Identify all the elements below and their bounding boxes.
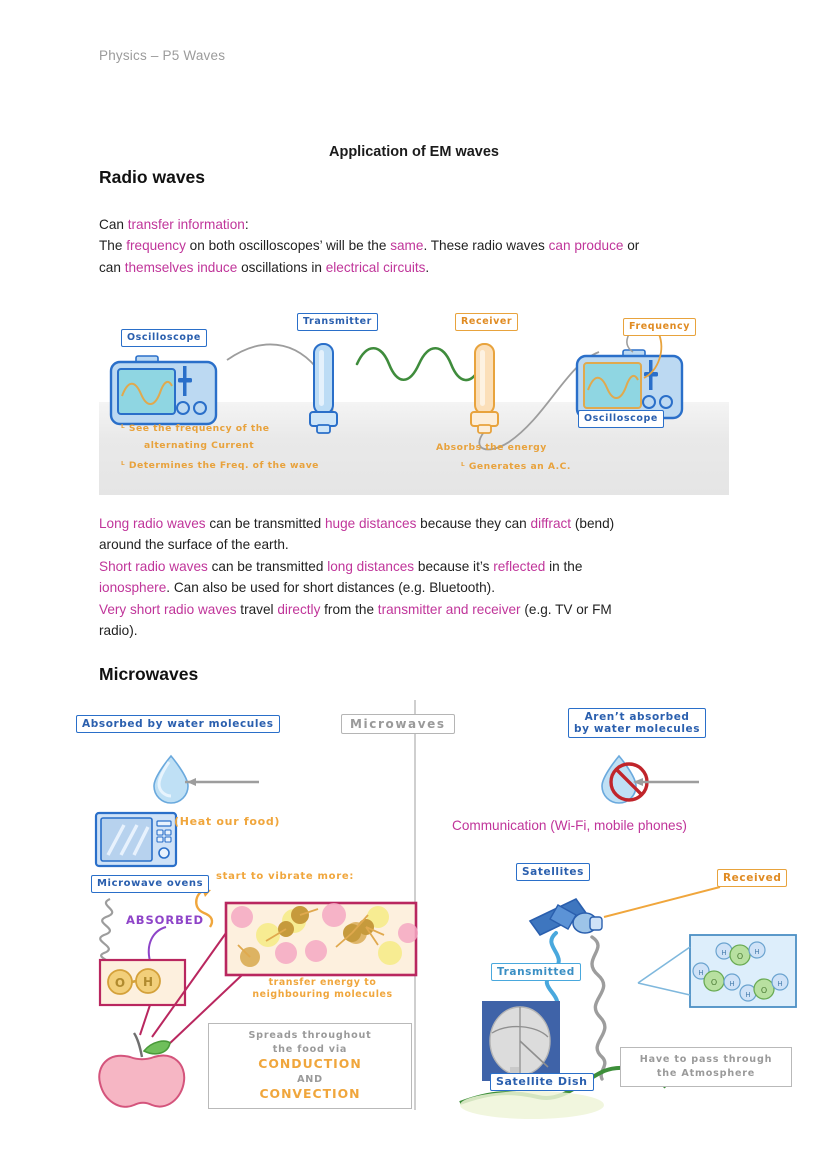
oscilloscope-right-icon: [577, 334, 682, 418]
note-page: Physics – P5 Waves Application of EM wav…: [0, 0, 828, 1171]
figure-microwave-heating: O H: [90, 805, 420, 1110]
label-oscilloscope-right: Oscilloscope: [578, 410, 664, 428]
satellite-icon: [530, 899, 602, 935]
label-transmitted: Transmitted: [491, 963, 581, 981]
text-directly: directly: [277, 602, 320, 617]
water-droplet-icon: [154, 756, 188, 803]
text-long-distances: long distances: [327, 559, 414, 574]
note-absorbs-energy: Absorbs the energy: [436, 442, 547, 453]
box-pass-through-atmosphere: Have to pass through the Atmosphere: [620, 1047, 792, 1087]
apple-icon: [99, 1033, 184, 1107]
svg-text:H: H: [698, 969, 703, 977]
text-long-radio-waves: Long radio waves: [99, 516, 206, 531]
text-can: Can: [99, 217, 128, 232]
label-absorbed-by-water-molecules: Absorbed by water molecules: [76, 715, 280, 733]
svg-text:H: H: [729, 980, 734, 988]
oscilloscope-left-icon: [111, 356, 216, 424]
caption-transfer-energy: transfer energy to neighbouring molecule…: [230, 977, 415, 1001]
svg-text:H: H: [777, 980, 782, 988]
text-can-produce: can produce: [549, 238, 624, 253]
caption-transfer-line1: transfer energy to: [269, 977, 377, 988]
label-satellites: Satellites: [516, 863, 590, 881]
caption-spreads-line1: Spreads throughout: [248, 1030, 371, 1041]
satellite-dish-icon: [482, 1001, 560, 1083]
section-heading-microwaves: Microwaves: [99, 664, 198, 685]
label-receiver: Receiver: [455, 313, 518, 331]
caption-convection: CONVECTION: [259, 1086, 360, 1101]
caption-spreads-line2: the food via: [273, 1044, 347, 1055]
svg-text:H: H: [143, 975, 153, 989]
text-diffract: diffract: [531, 516, 572, 531]
box-spreads-throughout-food: Spreads throughout the food via CONDUCTI…: [208, 1023, 412, 1109]
label-not-absorbed-line2: by water molecules: [574, 723, 700, 735]
svg-text:H: H: [745, 991, 750, 999]
text-from-the: from the: [320, 602, 377, 617]
text-period: .: [425, 260, 429, 275]
text-because-they-can: because they can: [416, 516, 530, 531]
atmosphere-molecules-box: H O H H O H H O H: [638, 935, 796, 1007]
text-transfer-information: transfer information: [128, 217, 245, 232]
text-can-be-transmitted2: can be transmitted: [208, 559, 327, 574]
text-colon: :: [245, 217, 249, 232]
note-determines-freq: ᴸ Determines the Freq. of the wave: [121, 460, 319, 471]
caption-atmosphere-line2: the Atmosphere: [657, 1068, 755, 1079]
caption-atmosphere-line1: Have to pass through: [640, 1054, 773, 1065]
label-microwave-ovens: Microwave ovens: [91, 875, 209, 893]
label-transmitter: Transmitter: [297, 313, 378, 331]
text-the: The: [99, 238, 126, 253]
text-bend: (bend): [571, 516, 614, 531]
svg-text:O: O: [761, 986, 767, 995]
caption-conduction: CONDUCTION: [258, 1056, 361, 1071]
water-droplet-blocked-icon: [602, 756, 699, 803]
text-frequency: frequency: [126, 238, 186, 253]
caption-communication: Communication (Wi-Fi, mobile phones): [452, 818, 687, 833]
text-around-earth: around the surface of the earth.: [99, 537, 289, 552]
label-not-absorbed-by-water: Aren’t absorbed by water molecules: [568, 708, 706, 738]
text-radio-close: radio).: [99, 623, 138, 638]
text-themselves-induce: themselves induce: [125, 260, 238, 275]
label-received: Received: [717, 869, 787, 887]
text-ionosphere: ionosphere: [99, 580, 166, 595]
water-molecule-box: O H: [100, 960, 185, 1005]
section-heading-radio-waves: Radio waves: [99, 167, 205, 188]
label-not-absorbed-line1: Aren’t absorbed: [585, 711, 690, 723]
svg-text:H: H: [721, 949, 726, 957]
text-in-the: in the: [545, 559, 582, 574]
text-can2: can: [99, 260, 125, 275]
note-generates-ac: ᴸ Generates an A.C.: [461, 461, 571, 472]
svg-text:O: O: [737, 952, 743, 961]
label-frequency: Frequency: [623, 318, 696, 336]
label-microwaves-title: Microwaves: [341, 714, 455, 734]
text-very-short-radio-waves: Very short radio waves: [99, 602, 237, 617]
label-satellite-dish: Satellite Dish: [490, 1073, 594, 1091]
text-huge-distances: huge distances: [325, 516, 416, 531]
note-see-frequency-line2: alternating Current: [144, 440, 254, 451]
text-or: or: [623, 238, 639, 253]
vibrating-molecules-box: [226, 903, 418, 975]
text-same: same: [390, 238, 423, 253]
text-travel: travel: [237, 602, 278, 617]
droplet-row-svg: [99, 750, 739, 810]
transmitter-antenna-icon: [310, 344, 337, 433]
paragraph-radio-intro: Can transfer information: The frequency …: [99, 214, 739, 278]
figure-microwave-communication: H O H H O H H O H: [452, 855, 800, 1110]
text-can-be-transmitted: can be transmitted: [206, 516, 325, 531]
label-oscilloscope-left: Oscilloscope: [121, 329, 207, 347]
receiver-antenna-icon: [471, 344, 498, 433]
svg-text:O: O: [115, 976, 125, 990]
page-title: Application of EM waves: [0, 144, 828, 160]
svg-text:O: O: [711, 978, 717, 987]
text-on-both: on both oscilloscopes’ will be the: [186, 238, 390, 253]
text-these-waves: . These radio waves: [423, 238, 548, 253]
breadcrumb: Physics – P5 Waves: [99, 48, 225, 63]
caption-transfer-line2: neighbouring molecules: [252, 989, 392, 1000]
microwave-oven-icon: [96, 813, 176, 866]
text-oscillations-in: oscillations in: [237, 260, 325, 275]
caption-and: AND: [297, 1074, 323, 1085]
caption-absorbed: ABSORBED: [126, 913, 204, 927]
note-see-frequency-line1: ᴸ See the frequency of the: [121, 423, 269, 434]
text-reflected: reflected: [493, 559, 545, 574]
text-short-radio-waves: Short radio waves: [99, 559, 208, 574]
text-because-its: because it’s: [414, 559, 493, 574]
text-tv-fm: (e.g. TV or FM: [521, 602, 612, 617]
text-transmitter-receiver: transmitter and receiver: [378, 602, 521, 617]
caption-heat-our-food: (Heat our food): [174, 815, 280, 828]
svg-text:H: H: [754, 948, 759, 956]
text-electrical-circuits: electrical circuits: [326, 260, 426, 275]
text-bluetooth: . Can also be used for short distances (…: [166, 580, 495, 595]
figure-radio-transmission: Oscilloscope Transmitter Receiver Freque…: [99, 304, 729, 495]
caption-start-to-vibrate: start to vibrate more:: [216, 871, 354, 882]
paragraph-radio-distances: Long radio waves can be transmitted huge…: [99, 513, 739, 641]
